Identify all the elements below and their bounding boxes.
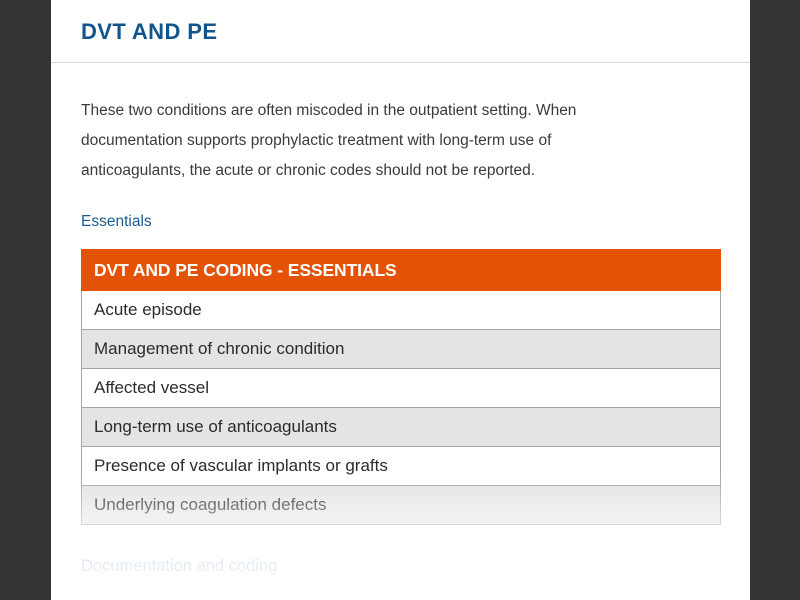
table-cell: Underlying coagulation defects xyxy=(82,486,721,525)
document-body: These two conditions are often miscoded … xyxy=(51,63,750,577)
essentials-table-body: Acute episode Management of chronic cond… xyxy=(82,291,721,525)
intro-paragraph: These two conditions are often miscoded … xyxy=(81,63,651,186)
table-cell: Affected vessel xyxy=(82,369,721,408)
table-row: Affected vessel xyxy=(82,369,721,408)
table-row: Long-term use of anticoagulants xyxy=(82,408,721,447)
table-header-cell: DVT AND PE CODING - ESSENTIALS xyxy=(82,250,721,291)
page-title: DVT AND PE xyxy=(81,19,217,45)
table-row: Management of chronic condition xyxy=(82,330,721,369)
table-row: Presence of vascular implants or grafts xyxy=(82,447,721,486)
table-cell: Long-term use of anticoagulants xyxy=(82,408,721,447)
essentials-table-head: DVT AND PE CODING - ESSENTIALS xyxy=(82,250,721,291)
table-row: Underlying coagulation defects xyxy=(82,486,721,525)
document-viewer: DVT AND PE These two conditions are ofte… xyxy=(0,0,800,600)
table-cell: Management of chronic condition xyxy=(82,330,721,369)
document-header: DVT AND PE xyxy=(51,0,750,63)
table-cell: Presence of vascular implants or grafts xyxy=(82,447,721,486)
table-header-row: DVT AND PE CODING - ESSENTIALS xyxy=(82,250,721,291)
section-link-essentials[interactable]: Essentials xyxy=(81,212,720,232)
section-link-documentation-and-coding[interactable]: Documentation and coding xyxy=(81,555,720,577)
table-cell: Acute episode xyxy=(82,291,721,330)
table-row: Acute episode xyxy=(82,291,721,330)
essentials-table: DVT AND PE CODING - ESSENTIALS Acute epi… xyxy=(81,249,721,525)
document-sheet: DVT AND PE These two conditions are ofte… xyxy=(51,0,750,600)
